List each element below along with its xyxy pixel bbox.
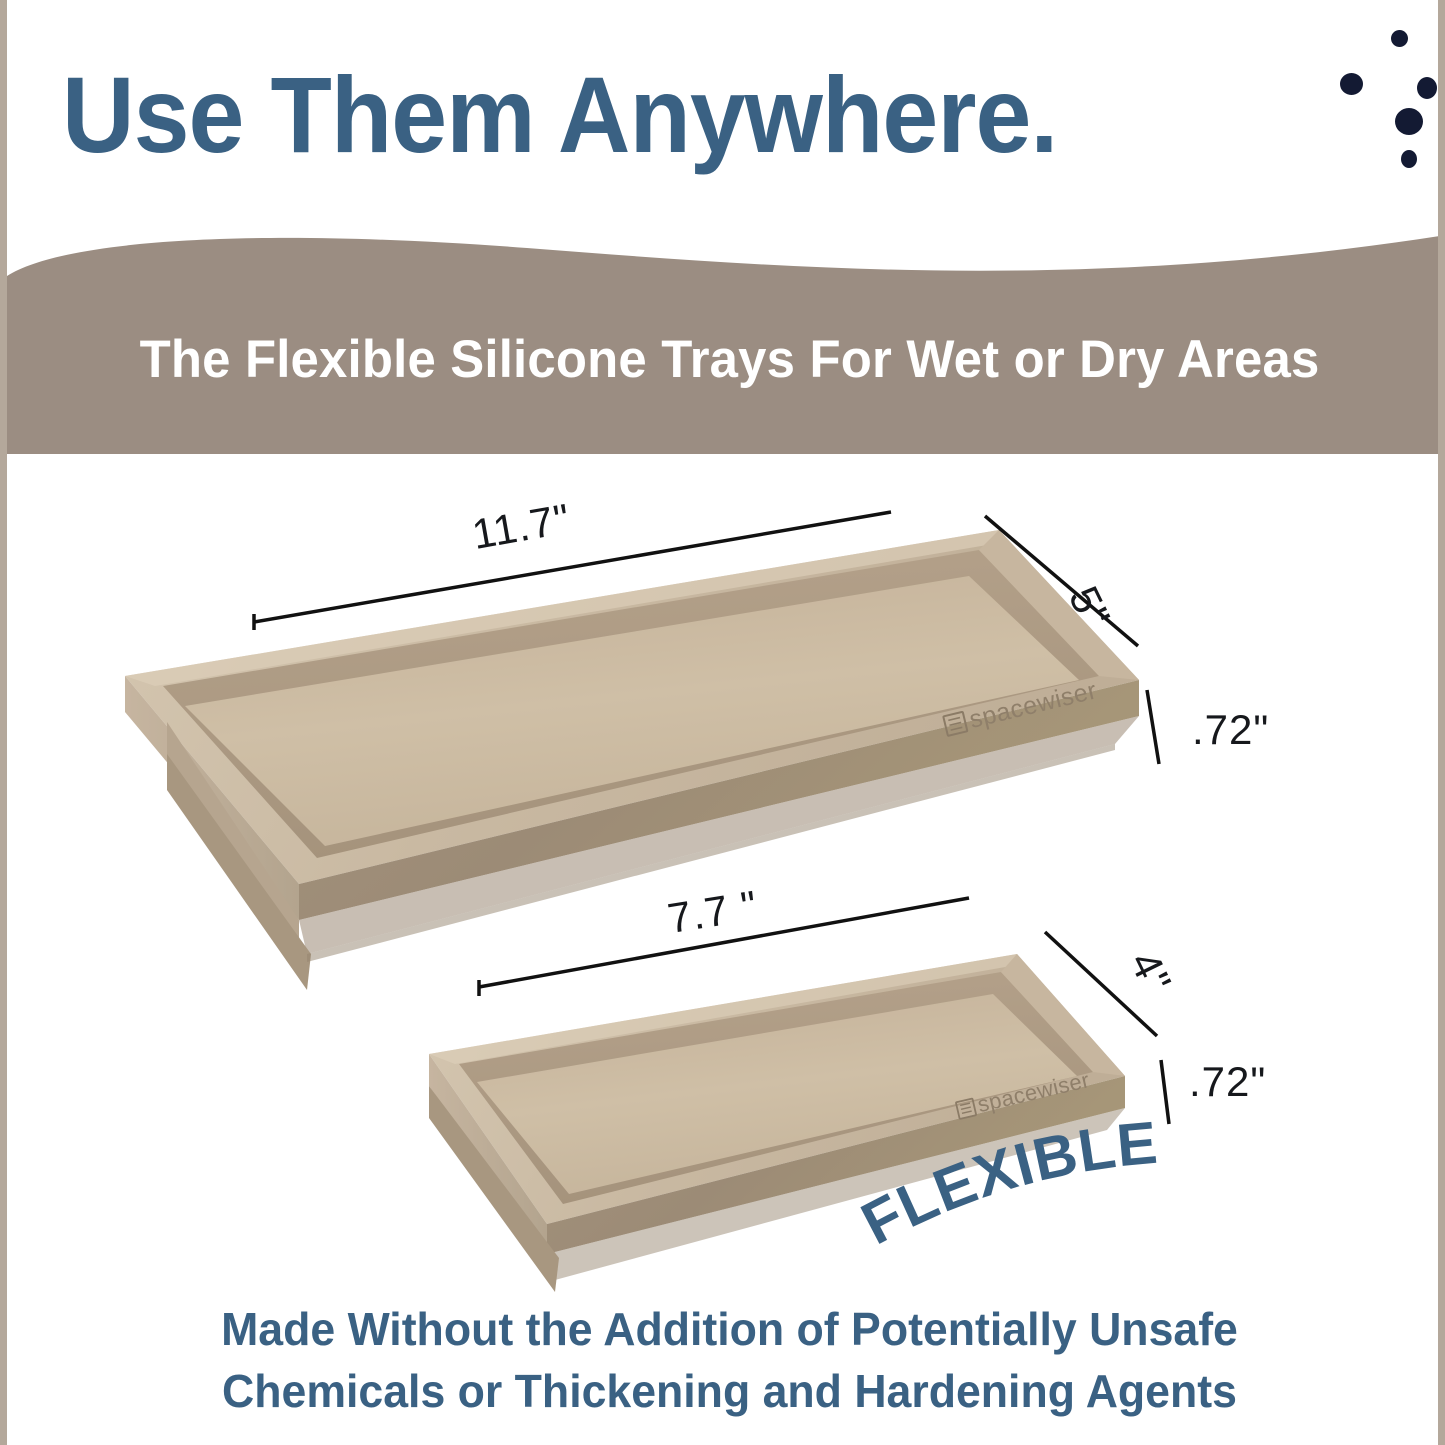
small-height-tick [1161,1060,1169,1124]
product-infographic: Use Them Anywhere. The Flexible Silicone… [0,0,1445,1445]
large-tray-height-label: .72" [1192,706,1269,754]
subtitle-banner: The Flexible Silicone Trays For Wet or D… [7,222,1445,454]
banner-title: The Flexible Silicone Trays For Wet or D… [140,329,1320,390]
decorative-dots-group [1307,22,1445,167]
decorative-dot [1417,77,1437,99]
decorative-dot [1401,150,1417,168]
flexible-badge: FLEXIBLE [872,1148,1142,1258]
decorative-dot [1340,73,1363,95]
small-tray-height-label: .72" [1189,1058,1266,1106]
footer-line-2: Chemicals or Thickening and Hardening Ag… [29,1360,1431,1422]
footer-line-1: Made Without the Addition of Potentially… [29,1298,1431,1360]
decorative-dot [1395,108,1423,135]
decorative-dot [1391,30,1408,47]
footer-claim: Made Without the Addition of Potentially… [7,1298,1445,1422]
banner-text-wrap: The Flexible Silicone Trays For Wet or D… [7,222,1445,454]
large-height-tick [1147,690,1159,764]
tray-illustration: spacewiser [7,454,1445,1294]
product-stage: spacewiser [7,454,1445,1294]
page-title: Use Them Anywhere. [62,52,1057,177]
